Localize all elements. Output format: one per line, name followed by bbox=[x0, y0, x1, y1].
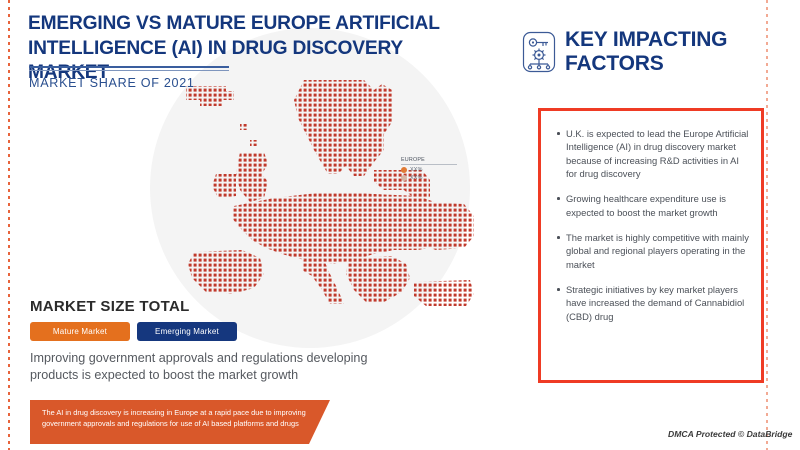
key-impacting-factors-title: KEY IMPACTING FACTORS bbox=[565, 28, 727, 75]
page-title: EMERGING VS MATURE EUROPE ARTIFICIAL INT… bbox=[28, 12, 458, 86]
left-panel: EUROPE XX% XX% EMERGING VS MATURE EUROPE… bbox=[0, 0, 500, 450]
key-factors-list: U.K. is expected to lead the Europe Arti… bbox=[541, 111, 761, 323]
legend-title: EUROPE bbox=[401, 157, 457, 165]
europe-dot-map bbox=[178, 78, 478, 308]
title-underline bbox=[29, 66, 229, 71]
list-item: Strategic initiatives by key market play… bbox=[557, 283, 749, 323]
title-underline-thin bbox=[29, 70, 229, 71]
list-item: The market is highly competitive with ma… bbox=[557, 231, 749, 271]
list-item: U.K. is expected to lead the Europe Arti… bbox=[557, 127, 749, 180]
key-network-icon bbox=[522, 31, 556, 73]
title-underline-thick bbox=[29, 66, 229, 68]
pill-mature-market[interactable]: Mature Market bbox=[30, 322, 130, 341]
key-factors-box: U.K. is expected to lead the Europe Arti… bbox=[538, 108, 764, 383]
legend-item-mature: XX% bbox=[401, 167, 457, 173]
legend-item-emerging: XX% bbox=[401, 175, 457, 181]
market-type-legend: Mature Market Emerging Market bbox=[30, 322, 237, 341]
highlight-banner: The AI in drug discovery is increasing i… bbox=[30, 400, 330, 444]
copyright-credit: DMCA Protected © DataBridge bbox=[668, 429, 792, 439]
legend-label-mature: XX% bbox=[410, 167, 423, 173]
map-legend: EUROPE XX% XX% bbox=[401, 157, 457, 181]
pill-emerging-market[interactable]: Emerging Market bbox=[137, 322, 237, 341]
legend-label-emerging: XX% bbox=[410, 175, 423, 181]
legend-swatch-mature bbox=[401, 167, 407, 173]
market-size-total-heading: MARKET SIZE TOTAL bbox=[30, 298, 190, 315]
right-panel: KEY IMPACTING FACTORS U.K. is expected t… bbox=[500, 0, 800, 450]
list-item: Growing healthcare expenditure use is ex… bbox=[557, 192, 749, 219]
legend-swatch-emerging bbox=[401, 175, 407, 181]
subtitle: MARKET SHARE OF 2021 bbox=[29, 76, 195, 90]
market-growth-note: Improving government approvals and regul… bbox=[30, 350, 410, 385]
key-impacting-factors-header: KEY IMPACTING FACTORS bbox=[522, 28, 727, 75]
